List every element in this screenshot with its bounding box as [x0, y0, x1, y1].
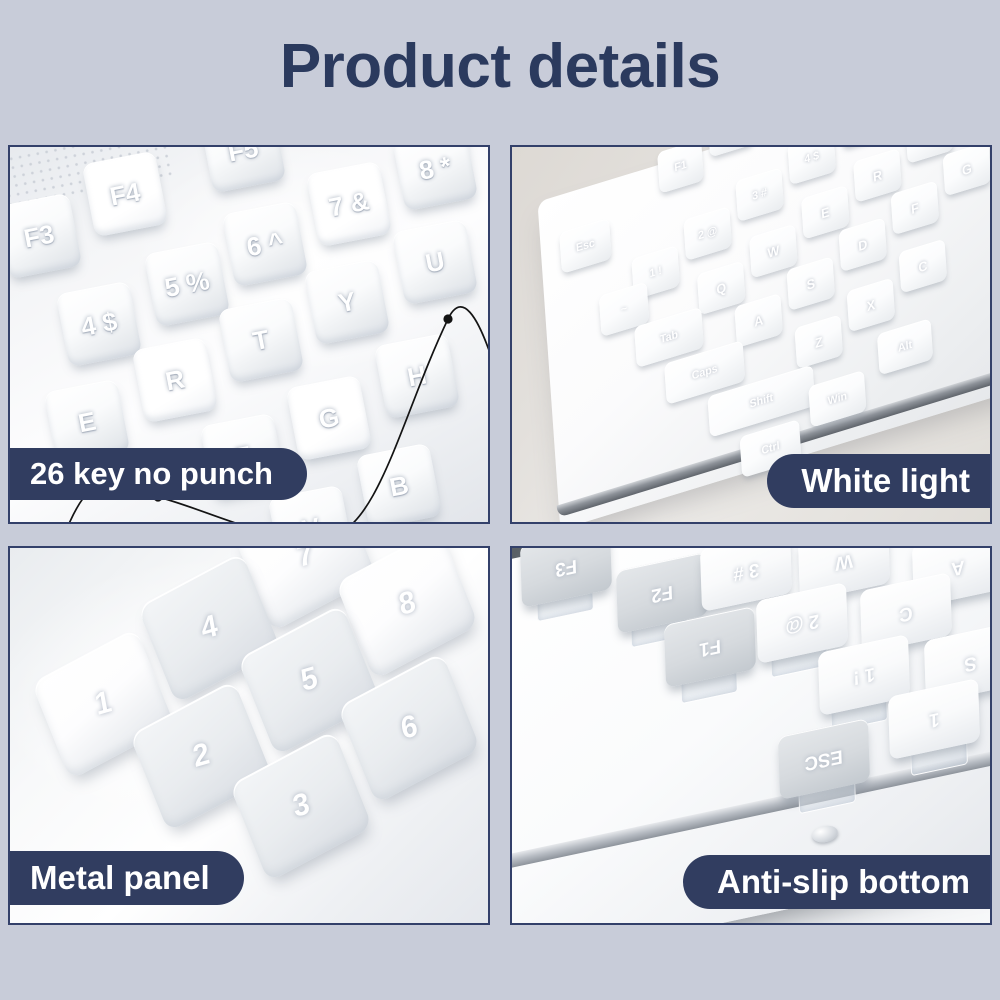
- keycap-f4: F4: [82, 151, 169, 238]
- keycap-u: U: [392, 219, 479, 306]
- keycap-y: Y: [304, 259, 391, 346]
- badge-label: 26 key no punch: [30, 456, 273, 492]
- badge-metal-panel: Metal panel: [8, 851, 244, 905]
- keycap-b: B: [356, 443, 443, 522]
- keycap-6: 6 ^: [222, 201, 309, 288]
- keycap-4: 4 $: [56, 281, 143, 368]
- keycap-r: R: [132, 337, 219, 424]
- badge-anti-slip-bottom: Anti-slip bottom: [683, 855, 992, 909]
- keycap-h: H: [374, 333, 461, 420]
- panel-white-light[interactable]: Esc F1 F2 F3 1 ! 2 @ 3 # 4 $ 5 % 6 ^ ~ Q…: [510, 145, 992, 524]
- keycap-5: 5 %: [144, 241, 231, 328]
- badge-label: Metal panel: [30, 859, 210, 897]
- badge-white-light: White light: [767, 454, 992, 508]
- badge-label: White light: [801, 462, 970, 500]
- panel-anti-slip-bottom[interactable]: F3 F2 3 # W A F1 2 @ C 1 ! S ESC 1 Anti-…: [510, 546, 992, 925]
- badge-label: Anti-slip bottom: [717, 863, 970, 901]
- keycap-7: 7 &: [306, 161, 393, 248]
- panel-metal-panel[interactable]: EWEADN 7 8 4 5 6 1 2 3 Metal panel: [8, 546, 490, 925]
- page-title: Product details: [0, 36, 1000, 98]
- panel-26-key-no-punch[interactable]: F3 F4 F5 4 $ 5 % 6 ^ 7 & 8 * E R T Y U F…: [8, 145, 490, 524]
- keycap-t: T: [218, 297, 305, 384]
- keycap-g: G: [286, 375, 373, 462]
- product-detail-grid: F3 F4 F5 4 $ 5 % 6 ^ 7 & 8 * E R T Y U F…: [8, 145, 992, 925]
- badge-26-key-no-punch: 26 key no punch: [8, 448, 307, 500]
